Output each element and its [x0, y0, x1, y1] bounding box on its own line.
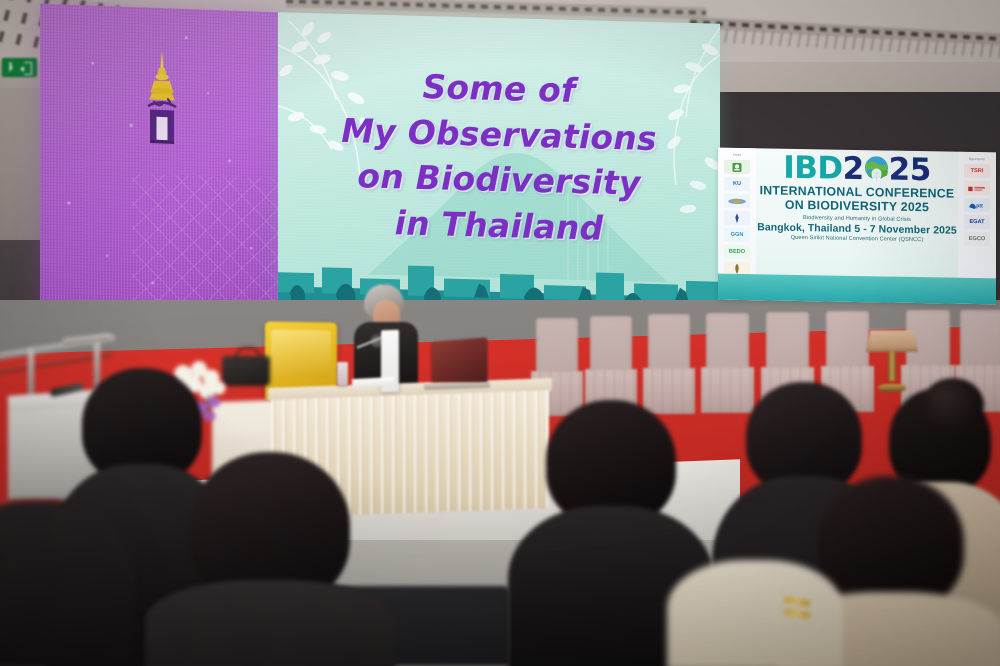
sponsor-logo: GGN [724, 228, 750, 242]
contact-logo-icon [732, 212, 742, 223]
shoulders [145, 580, 395, 666]
sponsor-logo [724, 160, 750, 174]
royal-cypher-emblem [132, 47, 192, 154]
sponsor-logo: EGAT [964, 215, 990, 229]
thaibev-logo-icon [727, 197, 747, 204]
ptt-ep-logo-icon [967, 184, 987, 191]
conference-banner: Host KU GGN BEDO [718, 148, 996, 305]
water-glass [337, 362, 348, 386]
lamp-shade [866, 330, 918, 352]
banner-logo-ibd: IBD [783, 153, 842, 185]
sponsor-logo: EGCO [964, 232, 990, 246]
exit-door-icon [24, 62, 32, 75]
emergency-exit-sign [2, 58, 37, 77]
audience-member-3 [536, 400, 686, 666]
banner-logo-digit-2: 2 [843, 154, 864, 185]
hair-bun [922, 378, 984, 432]
lamp-stem [888, 351, 896, 381]
laptop-lid [432, 337, 487, 382]
banner-logo-digits-25: 25 [889, 155, 931, 187]
globe-leaf-graphic [863, 155, 890, 185]
sponsor-logo: BEDO [724, 245, 750, 259]
moac-logo-icon [728, 161, 746, 172]
audience-member-2 [180, 452, 360, 666]
globe-icon [863, 155, 890, 185]
banner-conference-line-2: ON BIODIVERSITY 2025 [756, 198, 958, 215]
presentation-screen: Some of My Observations on Biodiversity … [278, 12, 720, 342]
sponsor-left-heading: Host [733, 153, 741, 157]
laptop [424, 339, 486, 387]
sponsor-right-heading: Sponsors [969, 157, 985, 161]
shoulders [667, 560, 843, 666]
stage-chair [648, 314, 690, 414]
banner-logo-line: IBD 2 25 [756, 152, 958, 187]
sponsor-logo: TSRI [964, 164, 990, 178]
sponsor-logo [724, 194, 750, 208]
ptt-logo-icon: ptt [967, 201, 987, 209]
slide-title: Some of My Observations on Biodiversity … [278, 60, 720, 254]
svg-text:ptt: ptt [976, 203, 983, 209]
running-person-icon [7, 62, 14, 73]
sponsor-logo [724, 211, 750, 225]
conference-hall-scene: Some of My Observations on Biodiversity … [0, 0, 1000, 666]
sponsor-logo: ptt [964, 198, 990, 212]
audience-member-8 [0, 500, 110, 666]
sponsor-logo: KU [724, 177, 750, 191]
sponsor-logo [964, 181, 990, 195]
banner-bottom-strip [718, 274, 996, 305]
